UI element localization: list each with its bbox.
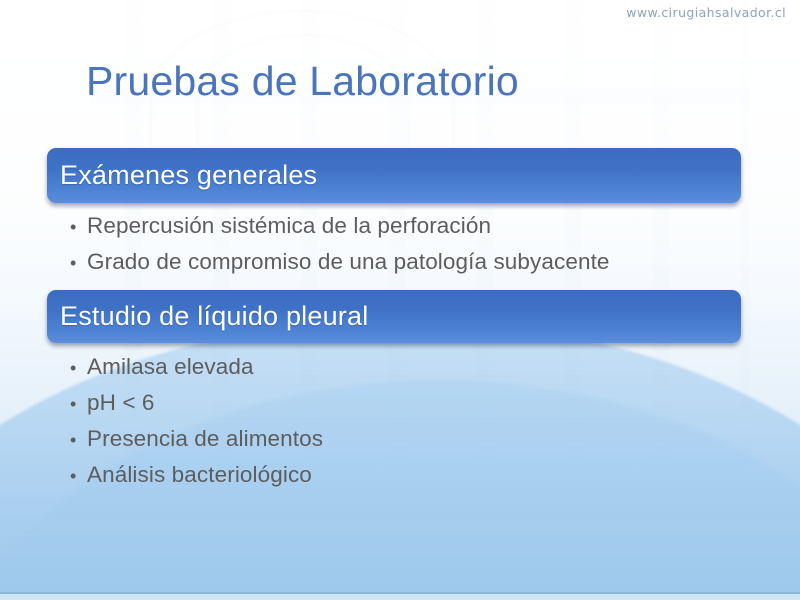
section-header-banner-2: Estudio de líquido pleural	[47, 290, 741, 343]
slide-title: Pruebas de Laboratorio	[86, 58, 519, 105]
list-item-label: Amilasa elevada	[87, 354, 254, 380]
bullet-list-2: • Amilasa elevada • pH < 6 • Presencia d…	[70, 354, 323, 498]
bullet-list-1: • Repercusión sistémica de la perforació…	[70, 213, 610, 285]
section-header-label-1: Exámenes generales	[60, 160, 317, 191]
list-item-label: Análisis bacteriológico	[87, 462, 312, 488]
list-item: • Análisis bacteriológico	[70, 462, 323, 498]
list-item: • Grado de compromiso de una patología s…	[70, 249, 610, 285]
list-item: • Repercusión sistémica de la perforació…	[70, 213, 610, 249]
site-watermark: www.cirugiahsalvador.cl	[626, 5, 786, 20]
presentation-slide: www.cirugiahsalvador.cl Pruebas de Labor…	[0, 0, 800, 600]
list-item-label: Grado de compromiso de una patología sub…	[87, 249, 610, 275]
list-item-label: Presencia de alimentos	[87, 426, 323, 452]
bullet-dot-icon: •	[70, 218, 87, 236]
bullet-dot-icon: •	[70, 467, 87, 485]
bullet-dot-icon: •	[70, 431, 87, 449]
section-header-banner-1: Exámenes generales	[47, 148, 741, 203]
list-item: • pH < 6	[70, 390, 323, 426]
list-item-label: pH < 6	[87, 390, 155, 416]
bullet-dot-icon: •	[70, 359, 87, 377]
list-item-label: Repercusión sistémica de la perforación	[87, 213, 491, 239]
list-item: • Presencia de alimentos	[70, 426, 323, 462]
background-bottom-strip	[0, 594, 800, 600]
bullet-dot-icon: •	[70, 254, 87, 272]
bullet-dot-icon: •	[70, 395, 87, 413]
section-header-label-2: Estudio de líquido pleural	[60, 301, 368, 332]
list-item: • Amilasa elevada	[70, 354, 323, 390]
